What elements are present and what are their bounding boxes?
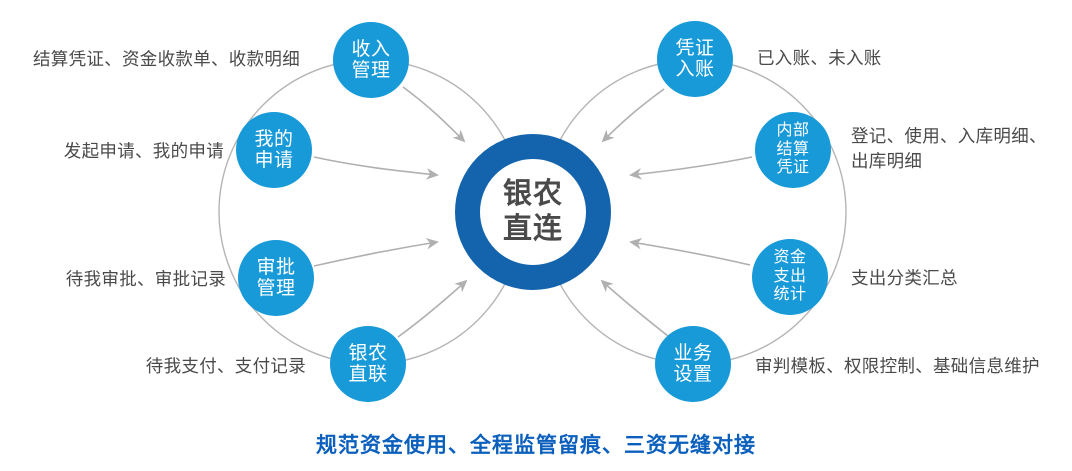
node-approval-management-label: 审批 管理 [256,257,295,300]
caption-internal-settlement-voucher: 登记、使用、入库明细、 出库明细 [851,124,1071,175]
node-income-management[interactable]: 收入 管理 [333,22,409,98]
node-internal-settlement-voucher[interactable]: 内部 结算 凭证 [755,112,831,188]
arrow-from-approval [314,242,437,266]
arrow-from-voucher [603,89,664,141]
node-yinnong-direct-link[interactable]: 银农 直联 [330,326,406,402]
node-voucher-entry[interactable]: 凭证 入账 [657,21,733,97]
arrow-from-internal-voucher [631,157,752,175]
node-approval-management[interactable]: 审批 管理 [238,240,314,316]
node-yinnong-direct-link-label: 银农 直联 [348,343,387,386]
arrow-from-income [403,87,464,141]
arrow-from-business-setting [602,281,668,336]
node-income-management-label: 收入 管理 [351,39,390,82]
tagline: 规范资金使用、全程监管留痕、三资无缝对接 [0,429,1072,459]
node-fund-expense-statistics[interactable]: 资金 支出 统计 [752,239,828,315]
caption-approval-management: 待我审批、审批记录 [0,267,226,292]
arrow-from-my-application [314,157,437,175]
center-donut: 银农 直连 [455,134,611,290]
node-voucher-entry-label: 凭证 入账 [675,38,714,81]
caption-yinnong-direct-link: 待我支付、支付记录 [0,354,306,379]
node-my-application-label: 我的 申请 [254,129,293,172]
caption-business-settings: 审判模板、权限控制、基础信息维护 [755,354,1072,379]
caption-fund-expense-statistics: 支出分类汇总 [851,266,1071,291]
center-label: 银农 直连 [503,177,563,248]
caption-income-management: 结算凭证、资金收款单、收款明细 [0,47,300,72]
node-fund-expense-statistics-label: 资金 支出 统计 [773,249,806,305]
caption-voucher-entry: 已入账、未入账 [757,46,1057,71]
diagram-canvas: 银农 直连 收入 管理 结算凭证、资金收款单、收款明细 我的 申请 发起申请、我… [0,0,1072,471]
node-business-settings[interactable]: 业务 设置 [655,326,731,402]
caption-my-application: 发起申请、我的申请 [0,139,224,164]
node-internal-settlement-voucher-label: 内部 结算 凭证 [776,122,809,178]
arrow-from-expense-stat [631,242,750,265]
node-my-application[interactable]: 我的 申请 [236,112,312,188]
node-business-settings-label: 业务 设置 [673,343,712,386]
arrow-from-yinnong [398,281,466,337]
